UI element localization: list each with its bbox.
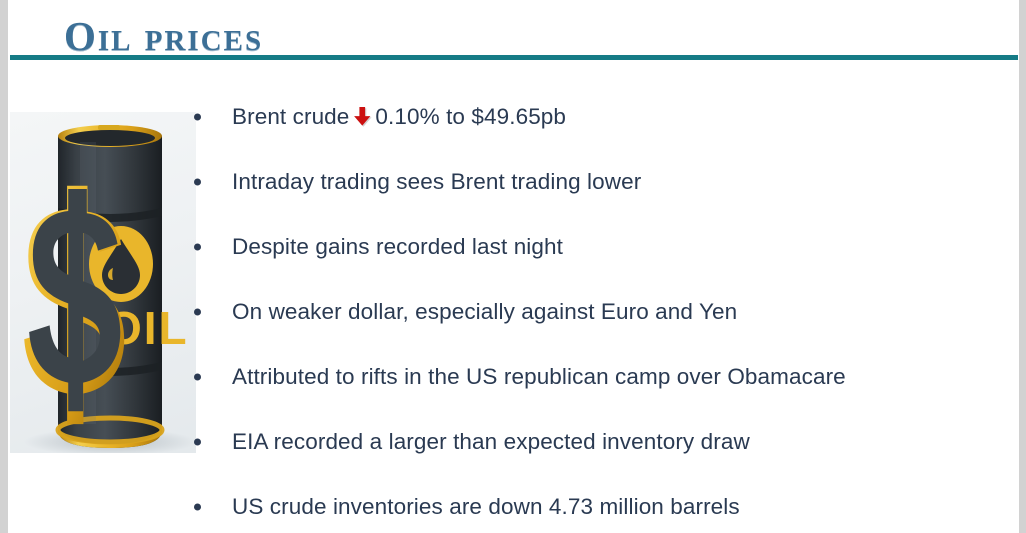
bullet-marker xyxy=(194,503,201,510)
bullet-item-republican-rifts: Attributed to rifts in the US republican… xyxy=(190,344,1010,409)
bullet-item-intraday-trading: Intraday trading sees Brent trading lowe… xyxy=(190,149,1010,214)
bullet-marker xyxy=(194,308,201,315)
bullet-text: Attributed to rifts in the US republican… xyxy=(232,364,846,390)
bullet-text: EIA recorded a larger than expected inve… xyxy=(232,429,750,455)
slide-oil-prices: Oil prices xyxy=(0,0,1026,533)
bullet-text: US crude inventories are down 4.73 milli… xyxy=(232,494,740,520)
bullet-item-weaker-dollar: On weaker dollar, especially against Eur… xyxy=(190,279,1010,344)
bullet-text: On weaker dollar, especially against Eur… xyxy=(232,299,737,325)
right-page-edge-strip xyxy=(1019,0,1026,533)
bullet-text: Intraday trading sees Brent trading lowe… xyxy=(232,169,641,195)
title-area: Oil prices xyxy=(0,0,1026,62)
left-page-edge-strip xyxy=(0,0,8,533)
bullet-item-eia-inventory-draw: EIA recorded a larger than expected inve… xyxy=(190,409,1010,474)
bullet-item-brent-crude: Brent crude0.10% to $49.65pb xyxy=(190,84,1010,149)
bullet-marker xyxy=(194,438,201,445)
bullet-item-despite-gains: Despite gains recorded last night xyxy=(190,214,1010,279)
bullet-text: Despite gains recorded last night xyxy=(232,234,563,260)
bullet-marker xyxy=(194,373,201,380)
bullet-marker xyxy=(194,243,201,250)
bullet-text: Brent crude0.10% to $49.65pb xyxy=(232,104,566,130)
bullet-marker xyxy=(194,178,201,185)
bullet-text-after-arrow: 0.10% to $49.65pb xyxy=(375,104,566,129)
oil-barrel-image: OIL xyxy=(10,112,196,453)
title-divider-rule xyxy=(10,55,1018,60)
page-title: Oil prices xyxy=(64,12,263,60)
bullet-item-us-crude-inventories: US crude inventories are down 4.73 milli… xyxy=(190,474,1010,533)
bullet-text-before-arrow: Brent crude xyxy=(232,104,349,129)
bullet-list: Brent crude0.10% to $49.65pb Intraday tr… xyxy=(190,84,1010,533)
bullet-marker xyxy=(194,113,201,120)
arrow-down-icon xyxy=(353,106,372,128)
barrel-cap xyxy=(98,125,120,130)
